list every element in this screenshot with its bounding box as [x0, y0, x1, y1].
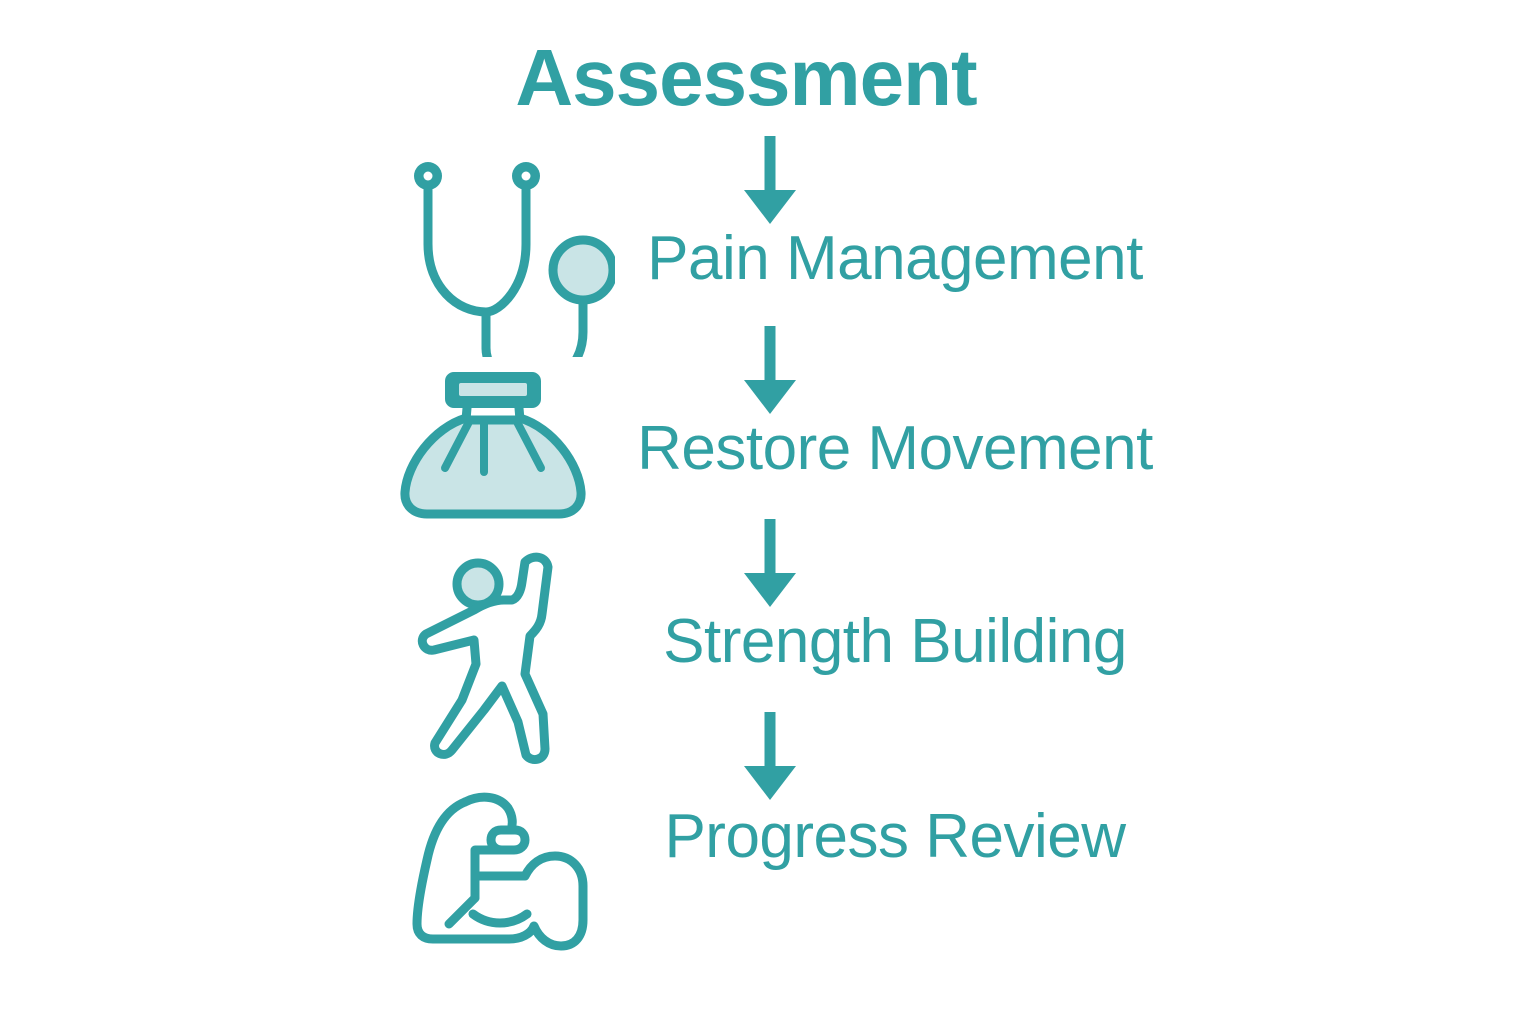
arrow-down-icon: [735, 322, 805, 422]
page-title: Assessment: [0, 38, 1514, 118]
arrow-down-3: [735, 515, 805, 615]
flexed-bicep-icon: [403, 788, 593, 958]
flowchart-canvas: Assessment Pain Management Restore Movem…: [0, 0, 1536, 1024]
arrow-down-icon: [735, 515, 805, 615]
arrow-down-2: [735, 322, 805, 422]
arrow-down-icon: [735, 708, 805, 808]
ice-pack-icon: [393, 372, 593, 522]
arrow-down-icon: [735, 132, 805, 232]
stretching-person-icon-slot: [412, 552, 577, 767]
stethoscope-icon: [405, 152, 615, 357]
ice-pack-icon-slot: [393, 372, 593, 522]
arrow-down-4: [735, 708, 805, 808]
stretching-person-icon: [412, 552, 577, 767]
arrow-down-1: [735, 132, 805, 232]
flexed-bicep-icon-slot: [403, 788, 593, 958]
stethoscope-icon-slot: [405, 152, 615, 357]
